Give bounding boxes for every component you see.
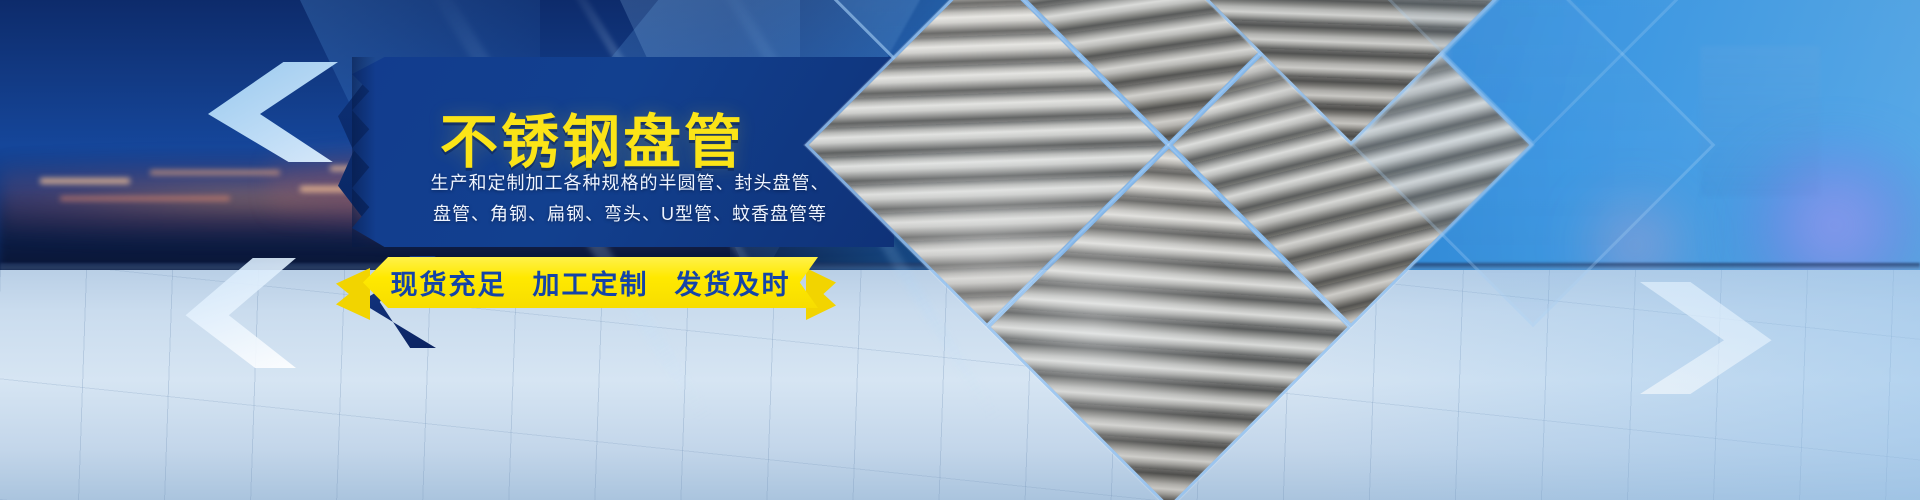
feature-item-3: 发货及时 bbox=[675, 263, 791, 302]
skyline-light bbox=[150, 170, 280, 175]
feature-list: 现货充足 加工定制 发货及时 bbox=[363, 257, 818, 308]
skyline-light bbox=[40, 178, 130, 184]
ribbon-fold-shadow bbox=[352, 57, 376, 247]
product-image-grid bbox=[828, 0, 1568, 500]
subtitle: 生产和定制加工各种规格的半圆管、封头盘管、 盘管、角钢、扁钢、弯头、U型管、蚊香… bbox=[400, 168, 860, 230]
skyline-light bbox=[60, 196, 230, 201]
subtitle-line-2: 盘管、角钢、扁钢、弯头、U型管、蚊香盘管等 bbox=[400, 199, 860, 230]
headline: 不锈钢盘管 bbox=[440, 95, 745, 179]
feature-item-1: 现货充足 bbox=[391, 263, 507, 302]
subtitle-line-1: 生产和定制加工各种规格的半圆管、封头盘管、 bbox=[400, 168, 860, 199]
feature-item-2: 加工定制 bbox=[533, 263, 649, 302]
hero-banner: 不锈钢盘管 生产和定制加工各种规格的半圆管、封头盘管、 盘管、角钢、扁钢、弯头、… bbox=[0, 0, 1920, 500]
